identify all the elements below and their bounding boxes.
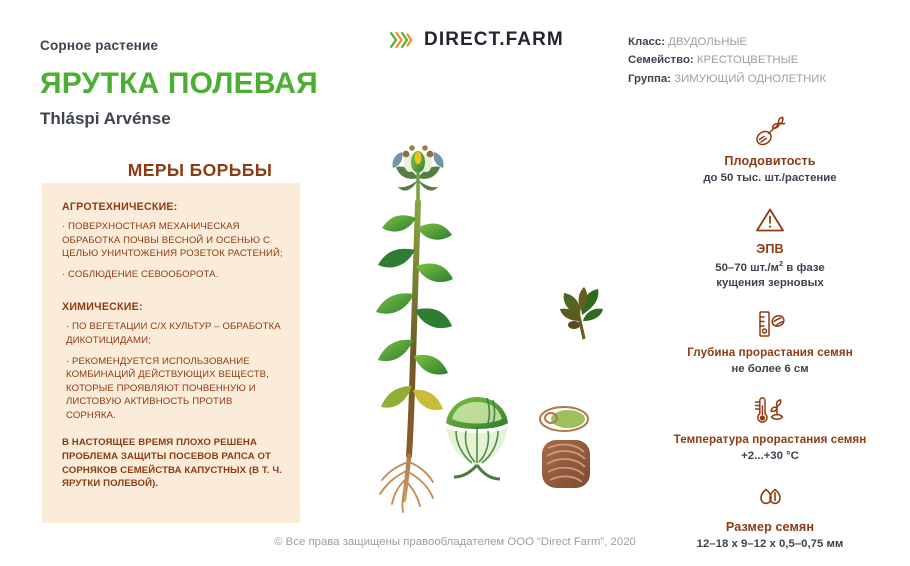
logo-text: DIRECT.FARM (424, 29, 564, 51)
taxonomy-row-family: Семейство: КРЕСТОЦВЕТНЫЕ (628, 51, 826, 69)
fact-title: Размер семян (640, 520, 900, 535)
kicker-label: Сорное растение (40, 38, 340, 53)
taxonomy-row-class: Класс: ДВУДОЛЬНЫЕ (628, 33, 826, 51)
taxonomy-value: КРЕСТОЦВЕТНЫЕ (697, 54, 798, 66)
warning-triangle-icon (640, 200, 900, 240)
fact-germination-depth: Глубина прорастания семян не более 6 см (640, 304, 900, 377)
illustration-root (380, 456, 433, 512)
sprouting-seed-icon (640, 112, 900, 152)
brand-logo[interactable]: DIRECT.FARM (388, 28, 564, 52)
taxonomy-key: Класс: (628, 36, 665, 48)
fact-title: Плодовитость (640, 154, 900, 169)
fact-value-part: кущения зерновых (716, 277, 823, 289)
measure-item: · СОБЛЮДЕНИЕ СЕВООБОРОТА. (62, 268, 284, 282)
taxonomy-key: Группа: (628, 73, 671, 85)
illustration-flower (392, 145, 443, 202)
taxonomy-value: ЗИМУЮЩИЙ ОДНОЛЕТНИК (674, 73, 826, 85)
taxonomy-row-group: Группа: ЗИМУЮЩИЙ ОДНОЛЕТНИК (628, 70, 826, 88)
illustration-silicle-pod (446, 397, 508, 479)
measures-note: В НАСТОЯЩЕЕ ВРЕМЯ ПЛОХО РЕШЕНА ПРОБЛЕМА … (62, 436, 284, 492)
taxonomy-value: ДВУДОЛЬНЫЕ (668, 36, 747, 48)
fact-value: +2...+30 °C (640, 449, 900, 464)
ruler-seed-icon (640, 304, 900, 344)
fact-germination-temperature: Температура прорастания семян +2...+30 °… (640, 391, 900, 464)
taxonomy-key: Семейство: (628, 54, 694, 66)
measure-item: · ПОВЕРХНОСТНАЯ МЕХАНИЧЕСКАЯ ОБРАБОТКА П… (62, 220, 284, 261)
thermometer-sprout-icon (640, 391, 900, 431)
infographic-page: Сорное растение ЯРУТКА ПОЛЕВАЯ Thláspi A… (0, 0, 910, 563)
page-title: ЯРУТКА ПОЛЕВАЯ (40, 68, 340, 100)
footer-copyright: © Все права защищены правообладателем ОО… (0, 536, 910, 548)
group-title: ХИМИЧЕСКИЕ: (62, 301, 284, 313)
fact-value: до 50 тыс. шт./растение (640, 171, 900, 186)
illustration-seed (540, 407, 588, 431)
spacer (62, 288, 284, 301)
fact-epv: ЭПВ 50–70 шт./м2 в фазе кущения зерновых (640, 200, 900, 290)
measure-item: · РЕКОМЕНДУЕТСЯ ИСПОЛЬЗОВАНИЕ КОМБИНАЦИЙ… (62, 355, 284, 423)
measure-item: · ПО ВЕГЕТАЦИИ С/Х КУЛЬТУР – ОБРАБОТКА Д… (62, 320, 284, 347)
measures-group-agrotechnical: АГРОТЕХНИЧЕСКИЕ: · ПОВЕРХНОСТНАЯ МЕХАНИЧ… (62, 201, 284, 281)
plant-header: Сорное растение ЯРУТКА ПОЛЕВАЯ Thláspi A… (40, 38, 340, 181)
control-measures-panel: АГРОТЕХНИЧЕСКИЕ: · ПОВЕРХНОСТНАЯ МЕХАНИЧ… (42, 183, 300, 523)
group-title: АГРОТЕХНИЧЕСКИЕ: (62, 201, 284, 213)
fact-title: Глубина прорастания семян (640, 346, 900, 360)
chevron-stripes-icon (388, 28, 414, 52)
two-seeds-icon (640, 478, 900, 518)
fact-value: не более 6 см (640, 362, 900, 377)
fact-value: 50–70 шт./м2 в фазе кущения зерновых (640, 259, 900, 290)
illustration-stem (409, 202, 418, 456)
plant-latin-name: Thláspi Arvénse (40, 109, 340, 129)
measures-group-chemical: ХИМИЧЕСКИЕ: · ПО ВЕГЕТАЦИИ С/Х КУЛЬТУР –… (62, 301, 284, 422)
taxonomy-block: Класс: ДВУДОЛЬНЫЕ Семейство: КРЕСТОЦВЕТН… (628, 33, 826, 88)
fact-title: Температура прорастания семян (640, 433, 900, 447)
illustration-rosette-seedling (560, 287, 603, 339)
fact-fertility: Плодовитость до 50 тыс. шт./растение (640, 112, 900, 186)
measures-heading: МЕРЫ БОРЬБЫ (40, 160, 340, 181)
plant-illustration (340, 90, 640, 520)
fact-title: ЭПВ (640, 242, 900, 257)
fact-value-part: 50–70 шт./м (715, 262, 779, 274)
facts-list: Плодовитость до 50 тыс. шт./растение ЭПВ… (640, 112, 900, 566)
fact-value-part: в фазе (783, 262, 825, 274)
illustration-seed-coil (542, 440, 590, 488)
